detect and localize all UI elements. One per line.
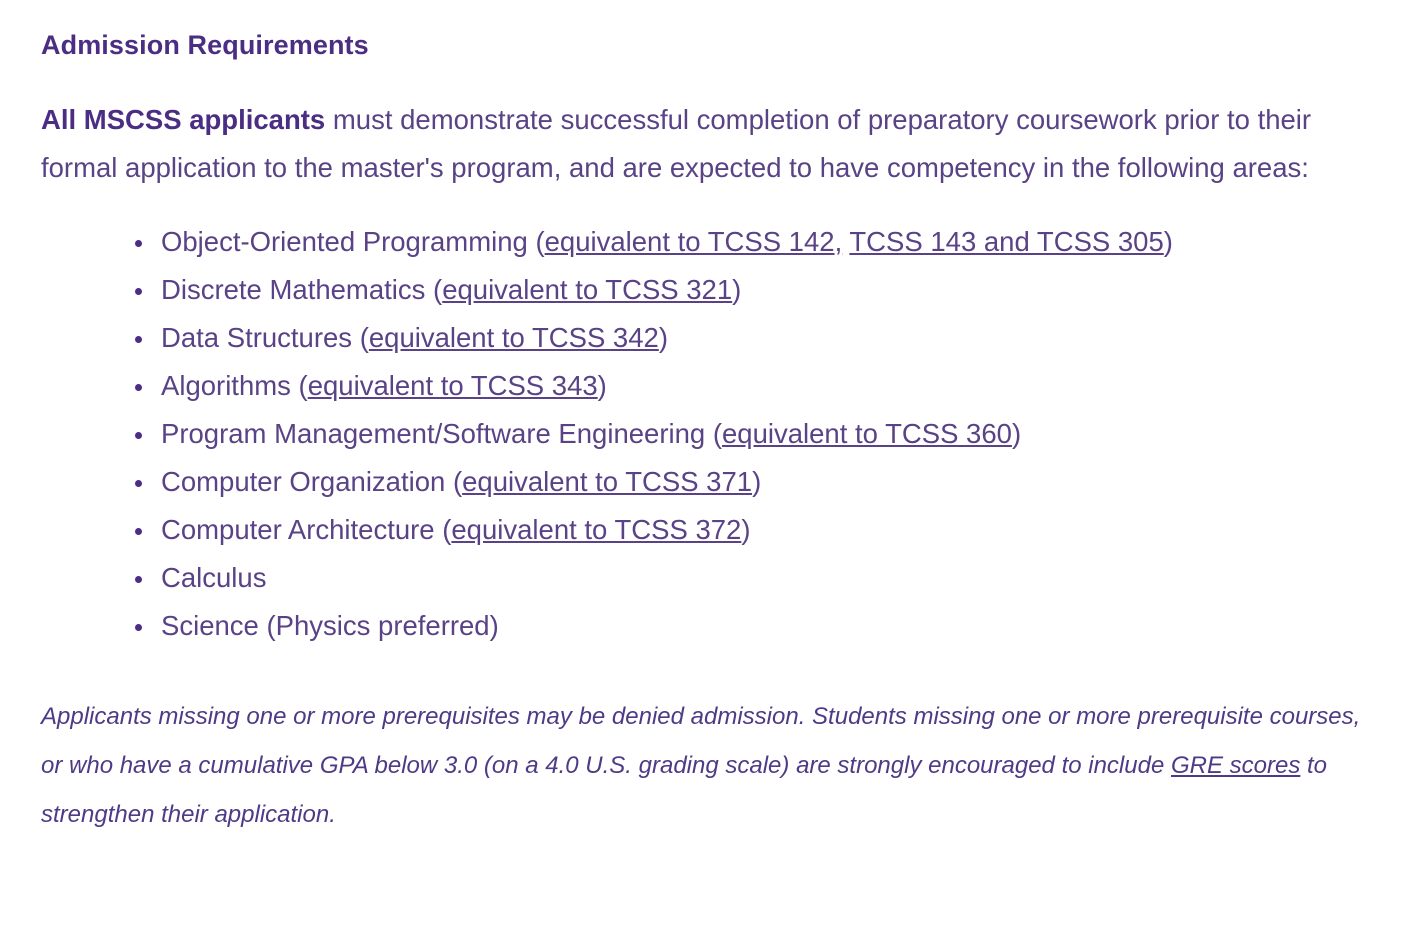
intro-paragraph: All MSCSS applicants must demonstrate su…	[41, 96, 1361, 192]
footnote-text-start: Applicants missing one or more prerequis…	[41, 703, 1360, 779]
course-link[interactable]: equivalent to TCSS 360	[722, 418, 1012, 449]
requirement-text: Computer Architecture (	[161, 514, 451, 545]
course-link[interactable]: equivalent to TCSS 321	[442, 274, 732, 305]
intro-lead-text: All MSCSS applicants	[41, 104, 325, 135]
list-item: Calculus	[41, 554, 1366, 602]
requirement-text: Object-Oriented Programming (	[161, 226, 545, 257]
requirement-suffix: )	[1012, 418, 1021, 449]
list-item: Data Structures (equivalent to TCSS 342)	[41, 314, 1366, 362]
list-item: Discrete Mathematics (equivalent to TCSS…	[41, 266, 1366, 314]
list-item: Object-Oriented Programming (equivalent …	[41, 218, 1366, 266]
admission-requirements-list: Object-Oriented Programming (equivalent …	[41, 218, 1366, 650]
requirement-text: Algorithms (	[161, 370, 308, 401]
requirement-suffix: )	[598, 370, 607, 401]
footnote-paragraph: Applicants missing one or more prerequis…	[41, 692, 1361, 839]
requirement-suffix: )	[659, 322, 668, 353]
course-link[interactable]: equivalent to TCSS 343	[308, 370, 598, 401]
content-page: Admission Requirements All MSCSS applica…	[0, 0, 1406, 942]
requirement-text: Computer Organization (	[161, 466, 462, 497]
list-item: Science (Physics preferred)	[41, 602, 1366, 650]
requirement-suffix: )	[741, 514, 750, 545]
requirement-text: Science (Physics preferred)	[161, 610, 499, 641]
course-link[interactable]: equivalent to TCSS 342	[369, 322, 659, 353]
list-item: Computer Architecture (equivalent to TCS…	[41, 506, 1366, 554]
course-link[interactable]: TCSS 143 and TCSS 305	[849, 226, 1163, 257]
page-title: Admission Requirements	[41, 28, 1366, 62]
requirement-text: Data Structures (	[161, 322, 369, 353]
course-link[interactable]: equivalent to TCSS 371	[462, 466, 752, 497]
course-link[interactable]: equivalent to TCSS 372	[451, 514, 741, 545]
course-link[interactable]: equivalent to TCSS 142,	[545, 226, 843, 257]
list-item: Computer Organization (equivalent to TCS…	[41, 458, 1366, 506]
requirement-suffix: )	[752, 466, 761, 497]
requirement-text: Program Management/Software Engineering …	[161, 418, 722, 449]
list-item: Program Management/Software Engineering …	[41, 410, 1366, 458]
requirement-text: Discrete Mathematics (	[161, 274, 442, 305]
requirement-suffix: )	[732, 274, 741, 305]
requirement-suffix: )	[1164, 226, 1173, 257]
requirement-text: Calculus	[161, 562, 266, 593]
list-item: Algorithms (equivalent to TCSS 343)	[41, 362, 1366, 410]
gre-scores-link[interactable]: GRE scores	[1171, 752, 1300, 779]
